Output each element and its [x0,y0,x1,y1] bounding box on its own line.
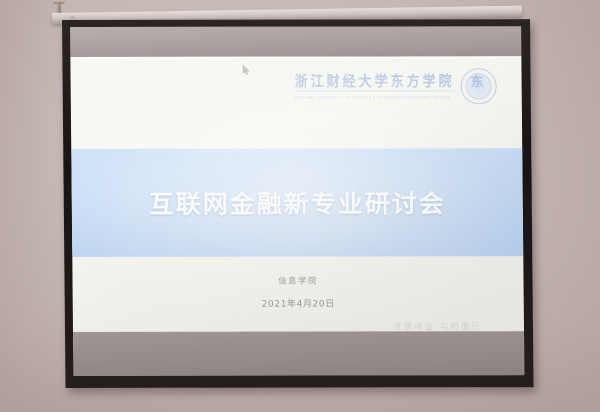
slide-top-edge [70,56,521,60]
logo-english-name: ZHEJIANG UNIVERSITY OF FINANCE & ECONOMI… [295,95,485,99]
logo-divider [295,90,455,91]
slide-title: 互联网金融新专业研讨会 [72,184,523,221]
university-logo: 浙江财经大学东方学院 ZHEJIANG UNIVERSITY OF FINANC… [294,70,484,110]
slide-department: 信息学院 [72,274,523,287]
mouse-pointer-icon [242,65,250,76]
projector-screen-frame: 浙江财经大学东方学院 ZHEJIANG UNIVERSITY OF FINANC… [62,19,534,388]
screen-mask-top [70,26,521,57]
screen-mask-bottom [73,331,524,376]
seal-mark: 东 [471,76,484,89]
rail-label: UL [70,15,76,20]
university-seal-icon: 东 [460,68,496,104]
presentation-slide: 浙江财经大学东方学院 ZHEJIANG UNIVERSITY OF FINANC… [70,56,524,351]
projector-screen-surface: 浙江财经大学东方学院 ZHEJIANG UNIVERSITY OF FINANC… [70,26,524,376]
slide-accent-band: 互联网金融新专业研讨会 [71,148,523,257]
logo-chinese-name: 浙江财经大学东方学院 [294,69,484,91]
slide-date: 2021年4月20日 [73,296,524,310]
